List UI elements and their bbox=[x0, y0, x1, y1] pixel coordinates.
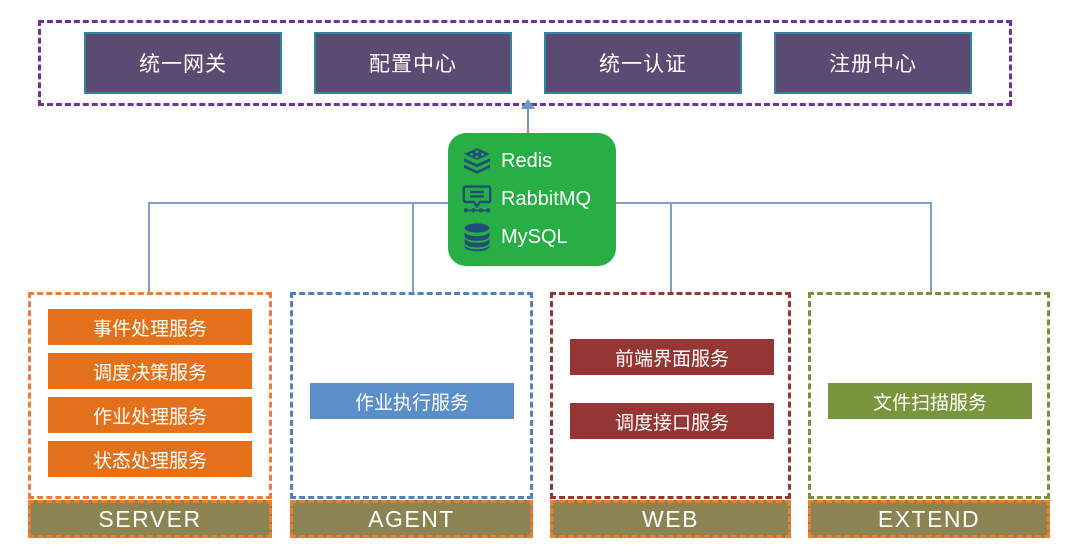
message-queue-icon bbox=[459, 182, 495, 216]
middleware-stack-box[interactable]: Redis bbox=[448, 133, 616, 266]
connector-drop-server bbox=[148, 202, 150, 294]
platform-box-label: 配置中心 bbox=[369, 48, 457, 78]
architecture-diagram-canvas: 统一网关 配置中心 统一认证 注册中心 bbox=[0, 0, 1080, 545]
middleware-item-rabbitmq[interactable]: RabbitMQ bbox=[459, 180, 616, 218]
module-group-web: 前端界面服务 调度接口服务 bbox=[550, 292, 791, 499]
module-group-server: 事件处理服务 调度决策服务 作业处理服务 状态处理服务 bbox=[28, 292, 272, 499]
service-box-schedule-decision[interactable]: 调度决策服务 bbox=[48, 353, 252, 389]
connector-drop-web bbox=[670, 202, 672, 294]
platform-box-label: 统一认证 bbox=[599, 48, 687, 78]
module-footer-agent: AGENT bbox=[290, 500, 533, 538]
platform-box-unified-auth[interactable]: 统一认证 bbox=[544, 32, 742, 94]
service-box-label: 调度决策服务 bbox=[93, 358, 207, 385]
platform-box-registry-center[interactable]: 注册中心 bbox=[774, 32, 972, 94]
connector-bus-right bbox=[614, 202, 931, 204]
platform-box-label: 统一网关 bbox=[139, 48, 227, 78]
module-footer-label: WEB bbox=[642, 506, 699, 533]
module-group-extend: 文件扫描服务 bbox=[808, 292, 1050, 499]
connector-drop-extend bbox=[930, 202, 932, 294]
service-box-file-scan[interactable]: 文件扫描服务 bbox=[828, 383, 1032, 419]
service-box-schedule-api[interactable]: 调度接口服务 bbox=[570, 403, 774, 439]
module-footer-label: SERVER bbox=[98, 506, 201, 533]
middleware-item-label: RabbitMQ bbox=[501, 188, 591, 211]
service-box-state-processing[interactable]: 状态处理服务 bbox=[48, 441, 252, 477]
connector-drop-agent bbox=[412, 202, 414, 294]
service-box-event-processing[interactable]: 事件处理服务 bbox=[48, 309, 252, 345]
middleware-item-redis[interactable]: Redis bbox=[459, 142, 616, 180]
middleware-item-label: MySQL bbox=[501, 226, 568, 249]
module-footer-label: EXTEND bbox=[878, 506, 980, 533]
platform-box-unified-gateway[interactable]: 统一网关 bbox=[84, 32, 282, 94]
database-cylinder-icon bbox=[459, 220, 495, 254]
service-box-label: 事件处理服务 bbox=[93, 314, 207, 341]
service-box-label: 调度接口服务 bbox=[615, 408, 729, 435]
platform-box-label: 注册中心 bbox=[829, 48, 917, 78]
middleware-item-mysql[interactable]: MySQL bbox=[459, 218, 616, 256]
module-footer-web: WEB bbox=[550, 500, 791, 538]
service-box-label: 作业执行服务 bbox=[355, 388, 469, 415]
service-box-frontend-ui[interactable]: 前端界面服务 bbox=[570, 339, 774, 375]
service-box-label: 前端界面服务 bbox=[615, 344, 729, 371]
connector-bus-left bbox=[148, 202, 450, 204]
platform-box-config-center[interactable]: 配置中心 bbox=[314, 32, 512, 94]
middleware-item-label: Redis bbox=[501, 150, 552, 173]
module-footer-extend: EXTEND bbox=[808, 500, 1050, 538]
layers-stack-icon bbox=[459, 144, 495, 178]
module-footer-server: SERVER bbox=[28, 500, 272, 538]
service-box-label: 状态处理服务 bbox=[93, 446, 207, 473]
service-box-label: 文件扫描服务 bbox=[873, 388, 987, 415]
module-footer-label: AGENT bbox=[368, 506, 455, 533]
arrow-up-shaft bbox=[527, 106, 529, 134]
service-box-job-processing[interactable]: 作业处理服务 bbox=[48, 397, 252, 433]
module-group-agent: 作业执行服务 bbox=[290, 292, 533, 499]
service-box-job-execution[interactable]: 作业执行服务 bbox=[310, 383, 514, 419]
service-box-label: 作业处理服务 bbox=[93, 402, 207, 429]
